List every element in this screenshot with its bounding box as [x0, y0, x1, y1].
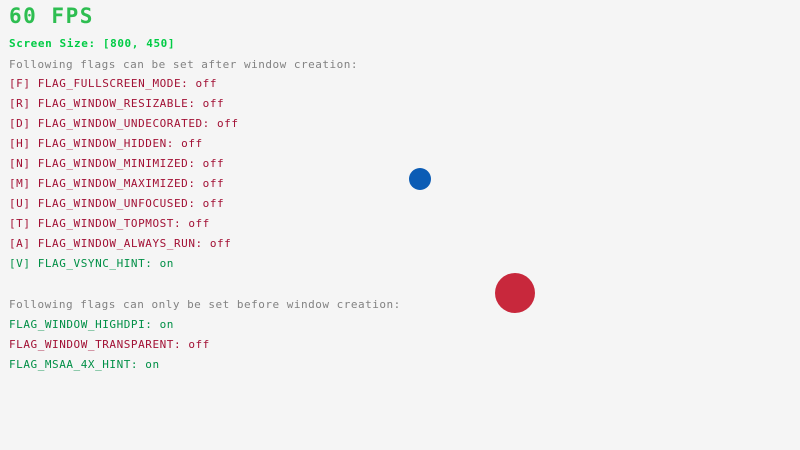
- flag-row-window-highdpi: FLAG_WINDOW_HIGHDPI: on: [9, 319, 174, 330]
- raylib-window-flags-demo: 60 FPS Screen Size: [800, 450] Following…: [0, 0, 800, 450]
- flag-row-window-hidden[interactable]: [H] FLAG_WINDOW_HIDDEN: off: [9, 138, 203, 149]
- red-circle-shape: [495, 273, 535, 313]
- flag-row-window-always-run[interactable]: [A] FLAG_WINDOW_ALWAYS_RUN: off: [9, 238, 231, 249]
- flag-row-vsync-hint[interactable]: [V] FLAG_VSYNC_HINT: on: [9, 258, 174, 269]
- fps-counter: 60 FPS: [9, 6, 94, 27]
- creation-flags-note: Following flags can only be set before w…: [9, 299, 401, 310]
- flag-row-window-minimized[interactable]: [N] FLAG_WINDOW_MINIMIZED: off: [9, 158, 224, 169]
- runtime-flags-note: Following flags can be set after window …: [9, 59, 358, 70]
- flag-row-window-maximized[interactable]: [M] FLAG_WINDOW_MAXIMIZED: off: [9, 178, 224, 189]
- blue-circle-shape: [409, 168, 431, 190]
- flag-row-fullscreen-mode[interactable]: [F] FLAG_FULLSCREEN_MODE: off: [9, 78, 217, 89]
- screen-size-label: Screen Size: [800, 450]: [9, 38, 175, 49]
- flag-row-window-transparent: FLAG_WINDOW_TRANSPARENT: off: [9, 339, 210, 350]
- flag-row-window-resizable[interactable]: [R] FLAG_WINDOW_RESIZABLE: off: [9, 98, 224, 109]
- flag-row-window-unfocused[interactable]: [U] FLAG_WINDOW_UNFOCUSED: off: [9, 198, 224, 209]
- flag-row-msaa-4x-hint: FLAG_MSAA_4X_HINT: on: [9, 359, 160, 370]
- flag-row-window-undecorated[interactable]: [D] FLAG_WINDOW_UNDECORATED: off: [9, 118, 239, 129]
- flag-row-window-topmost[interactable]: [T] FLAG_WINDOW_TOPMOST: off: [9, 218, 210, 229]
